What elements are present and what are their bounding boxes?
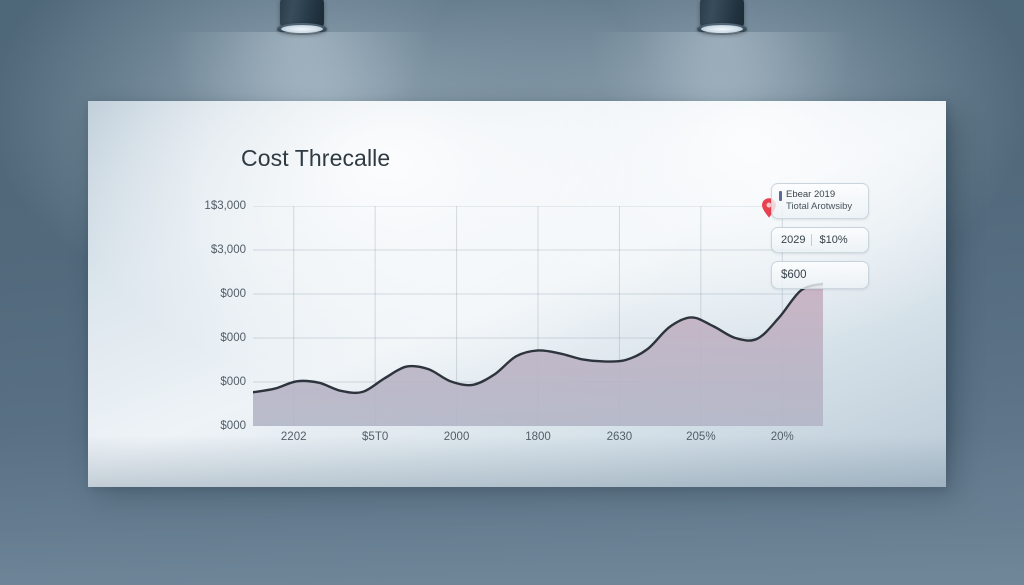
spotlight-mount-icon (717, 0, 728, 2)
x-axis-tick-label: 2000 (444, 431, 470, 443)
stat-row: 2029 $10% (779, 233, 861, 247)
y-axis-tick-label: $3,000 (211, 244, 246, 256)
x-axis-tick-label: 2630 (607, 431, 633, 443)
info-panel: Ebear 2019 Tiotal Arotwsiby 2029 $10% $6… (771, 183, 869, 297)
y-axis-tick-label: $000 (220, 288, 246, 300)
stat-card[interactable]: 2029 $10% (771, 227, 869, 253)
y-axis-tick-label: $000 (220, 376, 246, 388)
x-axis-tick-label: 205% (686, 431, 715, 443)
spotlight-body-icon (280, 0, 324, 28)
spotlight-body-icon (700, 0, 744, 28)
area-chart-svg (253, 206, 823, 426)
spotlight-rim-icon (277, 23, 327, 35)
x-axis-tick-label: 20% (771, 431, 794, 443)
legend-series-label: Ebear 2019 (786, 189, 835, 201)
room-scene: Cost Threcalle 1$3,000$3,000$000$000$000… (0, 0, 1024, 585)
y-axis-tick-label: $000 (220, 420, 246, 432)
chart-title: Cost Threcalle (241, 145, 390, 172)
spotlight-rim-icon (697, 23, 747, 35)
spotlight-lens-icon (281, 25, 323, 33)
dashboard-card: Cost Threcalle 1$3,000$3,000$000$000$000… (88, 101, 946, 487)
total-card[interactable]: $600 (771, 261, 869, 289)
chart-plot-area[interactable] (253, 206, 823, 426)
spotlight-left-fixture (272, 0, 332, 42)
spotlight-mount-icon (297, 0, 308, 2)
stat-value: 2029 (779, 233, 811, 247)
spotlight-right-fixture (692, 0, 752, 42)
legend-swatch-icon (779, 191, 782, 201)
x-axis-tick-label: $5T0 (362, 431, 388, 443)
y-axis: 1$3,000$3,000$000$000$000$000 (188, 206, 246, 426)
legend-card[interactable]: Ebear 2019 Tiotal Arotwsiby (771, 183, 869, 219)
x-axis-tick-label: 1800 (525, 431, 551, 443)
y-axis-tick-label: 1$3,000 (204, 200, 246, 212)
legend-row: Ebear 2019 (779, 189, 861, 201)
x-axis-tick-label: 2202 (281, 431, 307, 443)
spotlight-lens-icon (701, 25, 743, 33)
y-axis-tick-label: $000 (220, 332, 246, 344)
total-value: $600 (779, 267, 861, 283)
stat-percent: $10% (812, 233, 849, 247)
legend-series-sublabel: Tiotal Arotwsiby (779, 201, 861, 213)
x-axis: 2202$5T0200018002630205%20% (253, 431, 823, 451)
